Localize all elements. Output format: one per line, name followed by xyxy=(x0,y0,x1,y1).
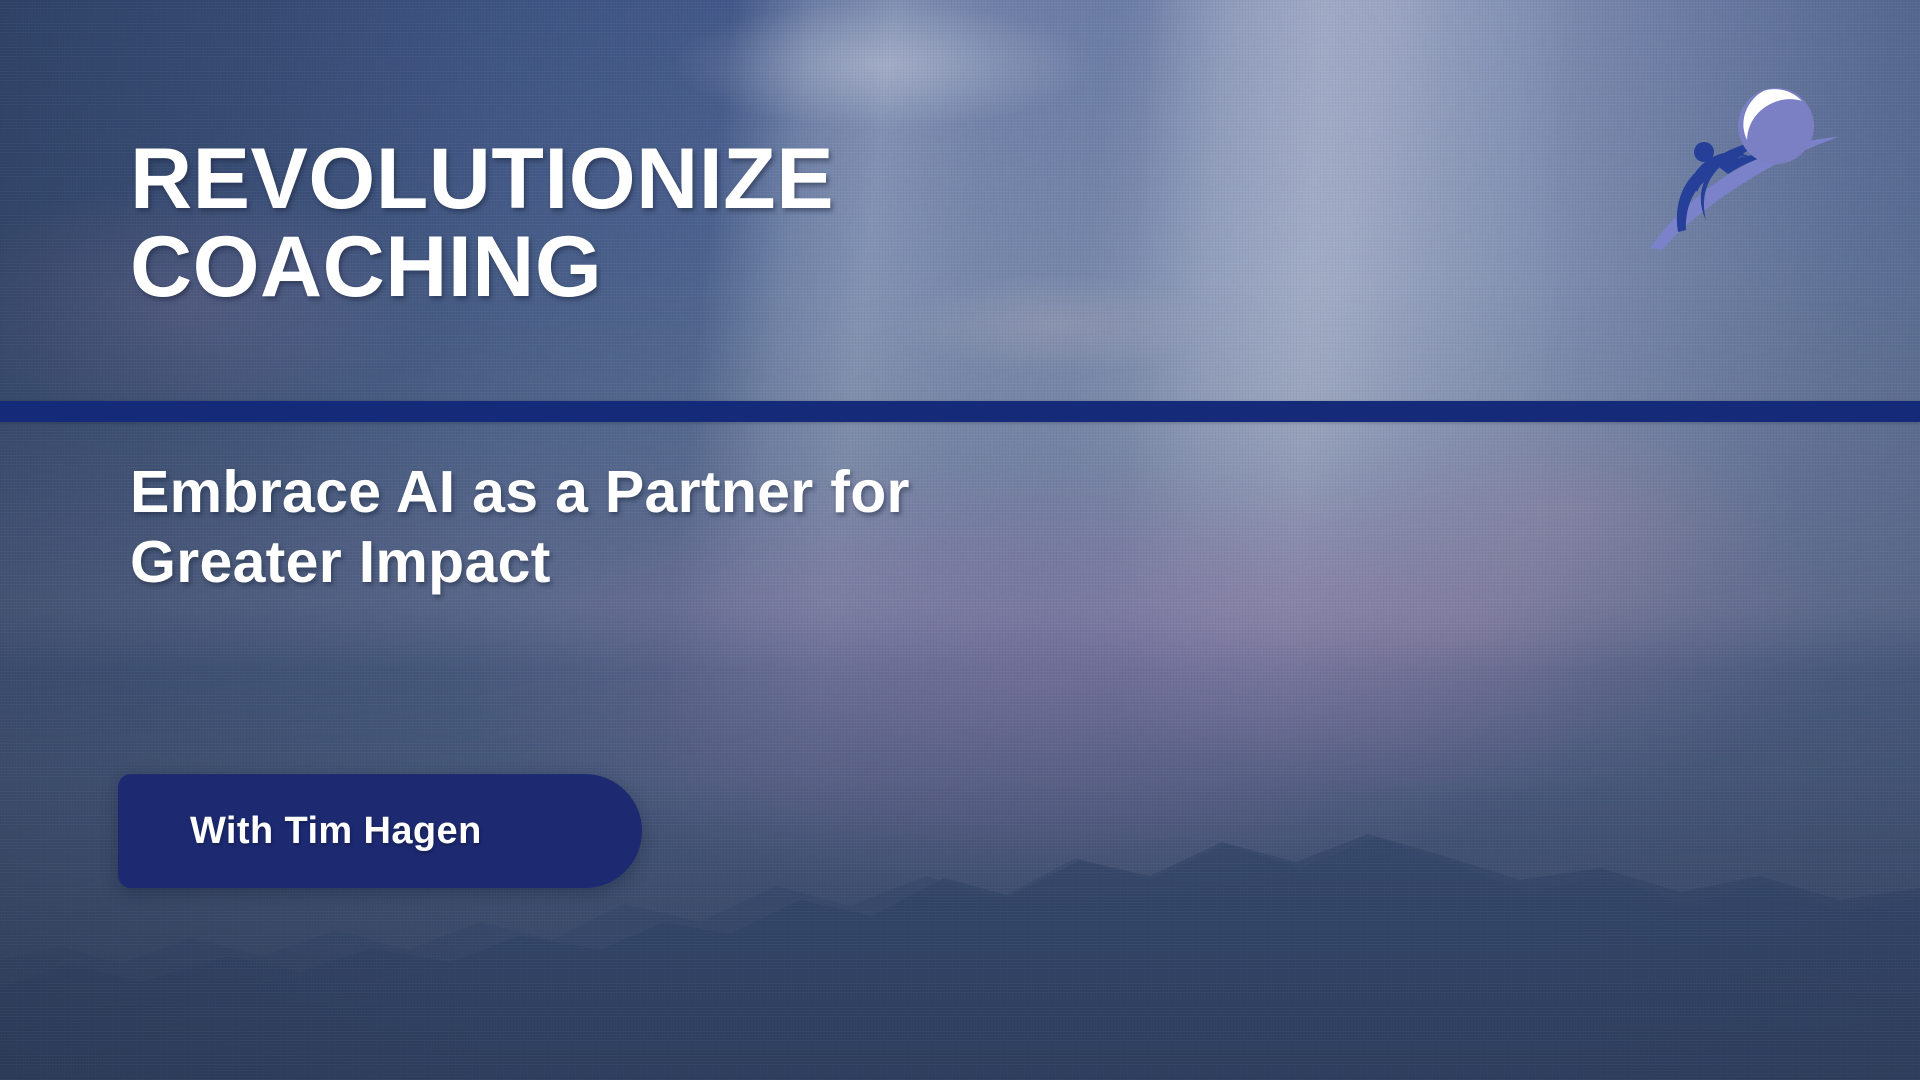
section-divider xyxy=(0,401,1920,422)
page-title-line-2: COACHING xyxy=(130,224,1180,312)
page-subtitle-line-1: Embrace AI as a Partner for xyxy=(130,458,1310,528)
presentation-title-slide: REVOLUTIONIZE COACHING Embrace AI as a P… xyxy=(0,0,1920,1080)
page-subtitle-line-2: Greater Impact xyxy=(130,528,1310,598)
page-title-line-1: REVOLUTIONIZE xyxy=(130,136,1180,224)
page-title: REVOLUTIONIZE COACHING xyxy=(130,136,1180,311)
progress-coaching-logo-icon xyxy=(1648,82,1840,250)
brand-logo xyxy=(1648,82,1840,250)
page-subtitle: Embrace AI as a Partner for Greater Impa… xyxy=(130,458,1310,597)
speaker-badge-label: With Tim Hagen xyxy=(190,810,482,853)
speaker-badge: With Tim Hagen xyxy=(118,774,642,888)
